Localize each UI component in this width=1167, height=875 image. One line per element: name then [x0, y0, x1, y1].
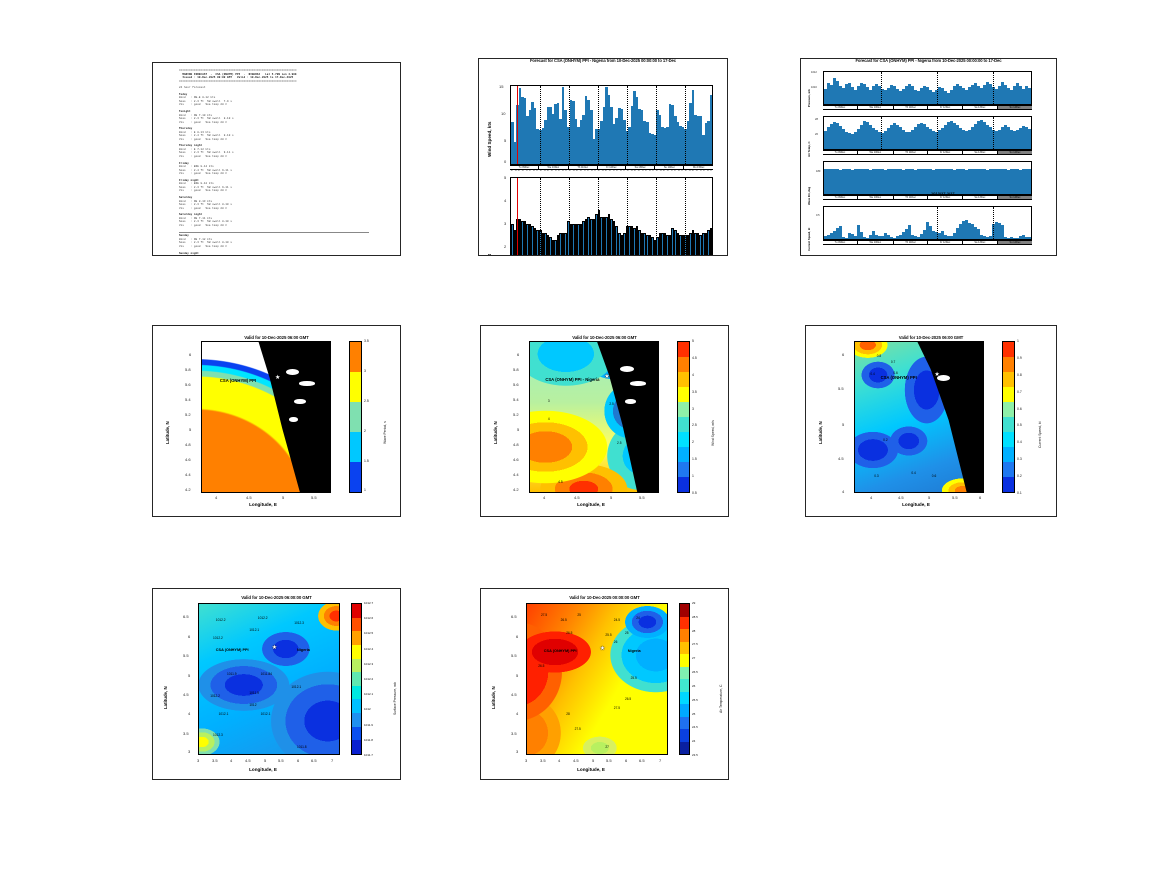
contour-label: 24 — [636, 616, 640, 620]
day-divider — [937, 72, 938, 104]
hour-tick: 09 — [550, 170, 553, 172]
day-divider — [540, 86, 541, 164]
day-divider — [685, 86, 686, 164]
y-tick: 3 — [516, 749, 518, 754]
cbar-tick: 26 — [692, 684, 695, 688]
pressure-map-xlabel: Longitude, E — [193, 767, 333, 772]
x-tick: 4 — [870, 495, 872, 500]
bar — [710, 95, 713, 164]
wave-height-axes — [510, 177, 713, 256]
date-cell: Mo 15Dec — [684, 166, 713, 169]
current-time-marker-wave — [517, 178, 518, 256]
contour-label: 1012.2 — [213, 636, 223, 640]
contour-label: 0.4 — [870, 372, 874, 376]
hour-tick: 15 — [702, 170, 705, 172]
contour-label: 1012 — [249, 703, 256, 707]
panel-wind-speed-map: Valid for 10-Dec-2025 06:00 GMT Latitude… — [480, 325, 729, 517]
x-tick: 4 — [230, 758, 232, 763]
wave-ytick-2: 2 — [504, 244, 506, 249]
hour-tick: 06 — [547, 170, 550, 172]
cbar-tick: 1.5 — [364, 459, 369, 463]
cbar-seg — [678, 342, 689, 357]
day-divider — [569, 178, 570, 256]
y-tick: 5.5 — [511, 653, 517, 658]
wind-speed-map-ylabel: Latitude, N — [493, 421, 498, 444]
hour-tick: 12 — [525, 170, 528, 172]
date-cell: Fr 12Dec — [928, 196, 962, 199]
cbar-tick: 1012 — [364, 707, 371, 711]
wind-speed-map-xlabel: Longitude, E — [526, 502, 656, 507]
y-tick: 5.4 — [185, 397, 191, 402]
cbar-seg — [678, 447, 689, 462]
y-tick: 5.4 — [513, 397, 519, 402]
pressure-axes — [823, 71, 1032, 105]
current-speed-cbar-label: Current Speed, kt — [1038, 421, 1042, 448]
pressure-ytick-1010: 1010 — [811, 86, 817, 89]
date-cell: We 10Dec — [858, 106, 894, 109]
y-tick: 5.8 — [185, 367, 191, 372]
contour-label: 1012.2 — [210, 694, 220, 698]
contour-label: 27.5 — [575, 727, 581, 731]
contour-label: 1012.2 — [216, 618, 226, 622]
contour-label: 27.5 — [541, 613, 547, 617]
cbar-tick: 1 — [1017, 339, 1019, 343]
date-cell: We 10Dec — [539, 166, 569, 169]
y-tick: 4 — [842, 489, 844, 494]
cbar-seg — [352, 631, 361, 645]
y-tick: 6 — [517, 352, 519, 357]
current-time-marker-wind — [517, 86, 518, 164]
day-divider — [656, 86, 657, 164]
day-divider — [598, 178, 599, 256]
day-divider — [881, 72, 882, 104]
cbar-tick: 0.8 — [1017, 373, 1022, 377]
site-marker-star: ★ — [275, 375, 280, 381]
cbar-tick: 1 — [692, 474, 694, 478]
y-tick: 6.5 — [511, 614, 517, 619]
x-tick: 6 — [625, 758, 627, 763]
contour-label: 3 — [548, 399, 550, 403]
hour-tick: 09 — [666, 170, 669, 172]
date-cell: Sa 13Dec — [963, 151, 998, 154]
airtemp-cbar-label: Air Temperature, C — [719, 685, 723, 713]
x-tick: 7 — [331, 758, 333, 763]
cbar-seg — [680, 667, 689, 680]
hour-tick: 00 — [684, 170, 687, 172]
cbar-tick: 5 — [692, 339, 694, 343]
contour-label: 0.7 — [891, 360, 895, 364]
y-tick: 5.6 — [185, 382, 191, 387]
cbar-seg — [1003, 417, 1014, 432]
cbar-seg — [678, 477, 689, 492]
x-tick: 5.5 — [278, 758, 284, 763]
day-divider — [993, 207, 994, 239]
panel-text-report: ========================================… — [152, 62, 401, 256]
cbar-seg — [352, 713, 361, 727]
cbar-tick: 4.5 — [692, 356, 697, 360]
bar — [1028, 169, 1031, 194]
cbar-tick: 26.5 — [692, 670, 698, 674]
y-tick: 5.2 — [513, 412, 519, 417]
cbar-tick: 0.9 — [1017, 356, 1022, 360]
cbar-tick: 1012.3 — [364, 662, 373, 666]
cbar-seg — [352, 672, 361, 686]
cbar-tick: 1012.4 — [364, 647, 373, 651]
cbar-tick: 27.5 — [692, 642, 698, 646]
x-tick: 5 — [592, 758, 594, 763]
cbar-tick: 0.4 — [1017, 440, 1022, 444]
contour-label: 26.5 — [561, 618, 567, 622]
cbar-tick: 27 — [692, 656, 695, 660]
airtemp-ytick-26: 26 — [815, 133, 818, 136]
hour-tick: 09 — [608, 170, 611, 172]
y-tick: 4.8 — [185, 442, 191, 447]
bar — [1028, 88, 1031, 104]
wind-speed-cbar-label: Wind Speed, m/s — [711, 420, 715, 446]
hour-tick: 00 — [626, 170, 629, 172]
wind-hour-ticks: 0003060912151821000306091215182100030609… — [510, 170, 713, 172]
cbar-seg — [1003, 477, 1014, 492]
wave-period-xlabel: Longitude, E — [198, 502, 328, 507]
date-cell: Su 14Dec — [998, 106, 1032, 109]
day-divider — [881, 117, 882, 149]
cbar-seg — [678, 417, 689, 432]
contour-label: 1012.1 — [249, 628, 259, 632]
y-tick: 5.8 — [513, 367, 519, 372]
contour-label: 25.5 — [605, 633, 611, 637]
contour-label: 1012.1 — [219, 712, 229, 716]
hour-tick: 00 — [597, 170, 600, 172]
cbar-tick: 1012.7 — [364, 601, 373, 605]
cbar-seg — [352, 699, 361, 713]
hour-tick: 06 — [663, 170, 666, 172]
site-marker-star: ★ — [604, 374, 609, 380]
contour-label: 27.5 — [614, 706, 620, 710]
hour-tick: 21 — [594, 170, 597, 172]
pressure-map-title: Valid for 10-Dec-2025 06:00:00 GMT — [153, 595, 400, 600]
hour-tick: 09 — [637, 170, 640, 172]
y-tick: 4.5 — [511, 692, 517, 697]
contour-label: 1011.9 — [249, 691, 259, 695]
date-cell: Th 11Dec — [894, 151, 929, 154]
contour-label: 1011.8 — [297, 745, 307, 749]
cbar-seg — [680, 742, 689, 755]
x-tick: 3.5 — [540, 758, 546, 763]
contour-label: 1012.2 — [258, 616, 268, 620]
panel-metocean-timeseries: Forecast for CSA (ONHYM) PPI - Nigeria f… — [800, 58, 1057, 256]
hour-tick: 21 — [623, 170, 626, 172]
cbar-tick: 24 — [692, 739, 695, 743]
cbar-tick: 25 — [692, 712, 695, 716]
cbar-seg — [1003, 462, 1014, 477]
panel-surface-pressure-map: Valid for 10-Dec-2025 06:00:00 GMT Latit… — [152, 588, 401, 780]
wind-speed-map-axes: CSA (ONHYM) PPI - Nigeria ★ 2.5 2.5 3 4 … — [529, 341, 659, 493]
date-cell: Fr 12Dec — [598, 166, 626, 169]
currentspeed-axes — [823, 206, 1032, 240]
x-tick: 4 — [558, 758, 560, 763]
contour-label: 1012.3 — [213, 733, 223, 737]
cbar-seg — [680, 692, 689, 705]
contour-label: 2.5 — [609, 402, 613, 406]
wave-ytick-3: 3 — [504, 221, 506, 226]
wave-ytick-4: 4 — [504, 198, 506, 203]
y-tick: 5 — [188, 673, 190, 678]
cbar-seg — [678, 357, 689, 372]
wavedir-axis-label: Wave Dir, deg — [807, 187, 811, 205]
cbar-tick: 1012.1 — [364, 692, 373, 696]
wind-ytick-10: 10 — [501, 111, 505, 116]
wind-speed-axis-label: Wind Speed, kts — [487, 122, 492, 157]
cbar-seg — [680, 729, 689, 742]
currentspeed-date-strip: Tu 09DecWe 10DecTh 11DecFr 12DecSa 13Dec… — [823, 240, 1032, 245]
wave-height-axis-label: Wave Height, ft — [487, 254, 492, 256]
cbar-tick: 28 — [692, 629, 695, 633]
hour-tick: 09 — [521, 170, 524, 172]
hour-tick: 06 — [576, 170, 579, 172]
x-tick: 5 — [610, 495, 612, 500]
cbar-seg — [680, 704, 689, 717]
contour-label: 1012.1 — [261, 712, 271, 716]
pressure-map-ylabel: Latitude, N — [163, 686, 168, 709]
cbar-tick: 0.3 — [1017, 457, 1022, 461]
y-tick: 6 — [188, 634, 190, 639]
hour-tick: 09 — [579, 170, 582, 172]
cbar-tick: 0.5 — [692, 491, 697, 495]
contour-label: 27 — [605, 745, 609, 749]
y-tick: 4.5 — [838, 456, 844, 461]
coastline-detail — [630, 381, 647, 386]
contour-label: 26.5 — [566, 631, 572, 635]
x-tick: 6.5 — [639, 758, 645, 763]
hour-tick: 15 — [557, 170, 560, 172]
y-tick: 4.8 — [513, 442, 519, 447]
forecast-report-body: ========================================… — [153, 63, 400, 256]
x-tick: 4.5 — [246, 495, 252, 500]
x-tick: 4 — [543, 495, 545, 500]
cbar-tick: 2 — [692, 440, 694, 444]
x-tick: 4.5 — [245, 758, 251, 763]
wave-period-colorbar — [349, 341, 362, 493]
cbar-seg — [680, 717, 689, 730]
x-tick: 6 — [297, 758, 299, 763]
cbar-seg — [350, 372, 361, 402]
day-divider — [993, 72, 994, 104]
x-tick: 5.5 — [311, 495, 317, 500]
hour-tick: 21 — [681, 170, 684, 172]
wind-speed-bars — [511, 86, 712, 164]
contour-label: 24.5 — [614, 618, 620, 622]
cbar-seg — [352, 604, 361, 618]
date-cell: Tu 09Dec — [823, 151, 858, 154]
currentspeed-bars — [824, 207, 1031, 239]
y-tick: 5 — [517, 427, 519, 432]
region-label-pressure: Nigeria — [297, 648, 310, 652]
date-cell: Th 11Dec — [894, 106, 929, 109]
y-tick: 4.6 — [513, 457, 519, 462]
y-tick: 5 — [842, 422, 844, 427]
x-tick: 3 — [525, 758, 527, 763]
cbar-tick: 1012.2 — [364, 677, 373, 681]
current-speed-colorbar — [1002, 341, 1015, 493]
airtemp-colorbar — [679, 603, 690, 755]
airtemp-map-ylabel: Latitude, N — [491, 686, 496, 709]
contour-label: 4.5 — [558, 480, 562, 484]
coastline-detail — [299, 381, 314, 386]
hour-tick: 12 — [554, 170, 557, 172]
contour-label: 0.8 — [877, 354, 881, 358]
day-divider — [937, 207, 938, 239]
cbar-tick: 0.2 — [1017, 474, 1022, 478]
cbar-tick: 4 — [692, 373, 694, 377]
cbar-tick: 29 — [692, 601, 695, 605]
date-cell: Fr 12Dec — [928, 241, 962, 244]
cbar-seg — [680, 629, 689, 642]
day-divider — [685, 178, 686, 256]
panel-air-temperature-map: Valid for 10-Dec-2025 00:00:00 GMT Latit… — [480, 588, 729, 780]
day-divider — [627, 86, 628, 164]
cbar-tick: 2 — [364, 429, 366, 433]
y-tick: 4 — [188, 711, 190, 716]
hour-tick: 06 — [518, 170, 521, 172]
cbar-seg — [1003, 372, 1014, 387]
hour-tick: 00 — [539, 170, 542, 172]
y-tick: 3 — [188, 749, 190, 754]
date-cell: Su 14Dec — [998, 241, 1032, 244]
cbar-tick: 1 — [364, 488, 366, 492]
cbar-tick: 2.5 — [364, 399, 369, 403]
hour-tick: 15 — [586, 170, 589, 172]
x-tick: 6 — [979, 495, 981, 500]
hour-tick: 06 — [605, 170, 608, 172]
y-tick: 3.5 — [511, 731, 517, 736]
current-speed-map-xlabel: Longitude, E — [851, 502, 981, 507]
day-divider — [569, 86, 570, 164]
x-tick: 3.5 — [212, 758, 218, 763]
date-cell: Tu 09Dec — [823, 241, 858, 244]
cbar-seg — [680, 654, 689, 667]
date-cell: Tu 09Dec — [823, 196, 858, 199]
cbar-tick: 24.5 — [692, 725, 698, 729]
x-tick: 5.5 — [606, 758, 612, 763]
contour-label: 0.4 — [911, 471, 915, 475]
airtemp-map-xlabel: Longitude, E — [521, 767, 661, 772]
report-divider — [179, 232, 369, 233]
wave-period-ylabel: Latitude, N — [165, 421, 170, 444]
bar — [1028, 237, 1031, 239]
wave-period-map-title: Valid for 10-Dec-2025 06:00 GMT — [153, 335, 400, 340]
date-cell: We 10Dec — [858, 241, 894, 244]
cbar-seg — [678, 432, 689, 447]
cbar-tick: 0.6 — [1017, 407, 1022, 411]
site-marker-star: ★ — [600, 646, 605, 652]
cbar-seg — [680, 617, 689, 630]
cbar-tick: 0.1 — [1017, 491, 1022, 495]
contour-label: 4 — [548, 417, 550, 421]
hour-tick: 12 — [583, 170, 586, 172]
site-label-wind-speed: CSA (ONHYM) PPI - Nigeria — [545, 377, 599, 382]
hour-tick: 12 — [699, 170, 702, 172]
cbar-tick: 1011.9 — [364, 723, 373, 727]
contour-label: 25.5 — [631, 676, 637, 680]
pressure-cbar-label: Surface Pressure, mb — [393, 682, 397, 715]
y-tick: 4.5 — [183, 692, 189, 697]
cbar-tick: 3 — [364, 369, 366, 373]
date-cell: Fr 12Dec — [928, 151, 962, 154]
y-tick: 4 — [516, 711, 518, 716]
date-cell: Su 14Dec — [655, 166, 684, 169]
day-divider — [598, 86, 599, 164]
y-tick: 6 — [516, 634, 518, 639]
y-tick: 5.5 — [838, 386, 844, 391]
x-tick: 4 — [215, 495, 217, 500]
x-tick: 5 — [282, 495, 284, 500]
y-tick: 5 — [516, 673, 518, 678]
airtemp-axes — [823, 116, 1032, 150]
date-cell: Tu 09Dec — [823, 106, 858, 109]
x-tick: 5.5 — [952, 495, 958, 500]
contour-label: 0.6 — [932, 474, 936, 478]
cbar-tick: 3 — [692, 407, 694, 411]
cbar-tick: 1012.5 — [364, 631, 373, 635]
wind-speed-axes — [510, 85, 713, 165]
hour-tick: 12 — [641, 170, 644, 172]
contour-label: 0.6 — [893, 371, 897, 375]
wavedir-axes — [823, 161, 1032, 195]
pressure-map-axes: CSA (ONHYM) PPI ★ Nigeria 1012.2 1012.2 … — [198, 603, 340, 755]
region-label-airtemp: Nigeria — [628, 649, 641, 653]
metocean-title: Forecast for CSA (ONHYM) PPI - Nigeria f… — [801, 58, 1056, 63]
y-tick: 4.4 — [185, 472, 191, 477]
current-speed-map-ylabel: Latitude, N — [818, 421, 823, 444]
date-cell: Th 11Dec — [569, 166, 598, 169]
cbar-tick: 28.5 — [692, 615, 698, 619]
y-tick: 5.2 — [185, 412, 191, 417]
hour-tick: 00 — [568, 170, 571, 172]
date-cell: Sa 13Dec — [963, 196, 998, 199]
airtemp-map-title: Valid for 10-Dec-2025 00:00:00 GMT — [481, 595, 728, 600]
site-label-wave-period: CSA (ONHYM) PPI — [220, 378, 256, 383]
panel-wind-wave-timeseries: Forecast for CSA (ONHYM) PPI - Nigeria f… — [478, 58, 728, 256]
cbar-seg — [352, 740, 361, 754]
date-cell: Sa 13Dec — [963, 241, 998, 244]
cbar-tick: 1.5 — [692, 457, 697, 461]
y-tick: 4.2 — [185, 487, 191, 492]
pressure-colorbar — [351, 603, 362, 755]
cbar-seg — [680, 604, 689, 617]
airtemp-map-axes: CSA (ONHYM) PPI ★ Nigeria 27.5 26.5 25 2… — [526, 603, 668, 755]
cbar-seg — [352, 618, 361, 632]
wave-period-map-axes: CSA (ONHYM) PPI ★ — [201, 341, 331, 493]
contour-label: 0.3 — [874, 474, 878, 478]
report-spacer — [179, 227, 396, 230]
wind-ytick-0: 0 — [504, 159, 506, 164]
x-tick: 4.5 — [573, 758, 579, 763]
y-tick: 4.4 — [513, 472, 519, 477]
airtemp-axis-label: Air Temp, C — [807, 142, 811, 158]
site-marker-star: ★ — [934, 372, 939, 378]
hour-tick: 12 — [670, 170, 673, 172]
wave-ytick-5: 5 — [504, 175, 506, 180]
coastline-detail — [294, 399, 306, 404]
site-marker-star: ★ — [272, 645, 277, 651]
date-cell: Su 14Dec — [998, 151, 1032, 154]
currentspeed-axis-label: Current Speed, kt — [807, 228, 811, 251]
cbar-tick: 0.7 — [1017, 390, 1022, 394]
date-cell: Sa 13Dec — [626, 166, 655, 169]
wind-speed-map-title: Valid for 10-Dec-2025 06:00 GMT — [481, 335, 728, 340]
cbar-seg — [1003, 387, 1014, 402]
date-cell: We 10Dec — [858, 151, 894, 154]
